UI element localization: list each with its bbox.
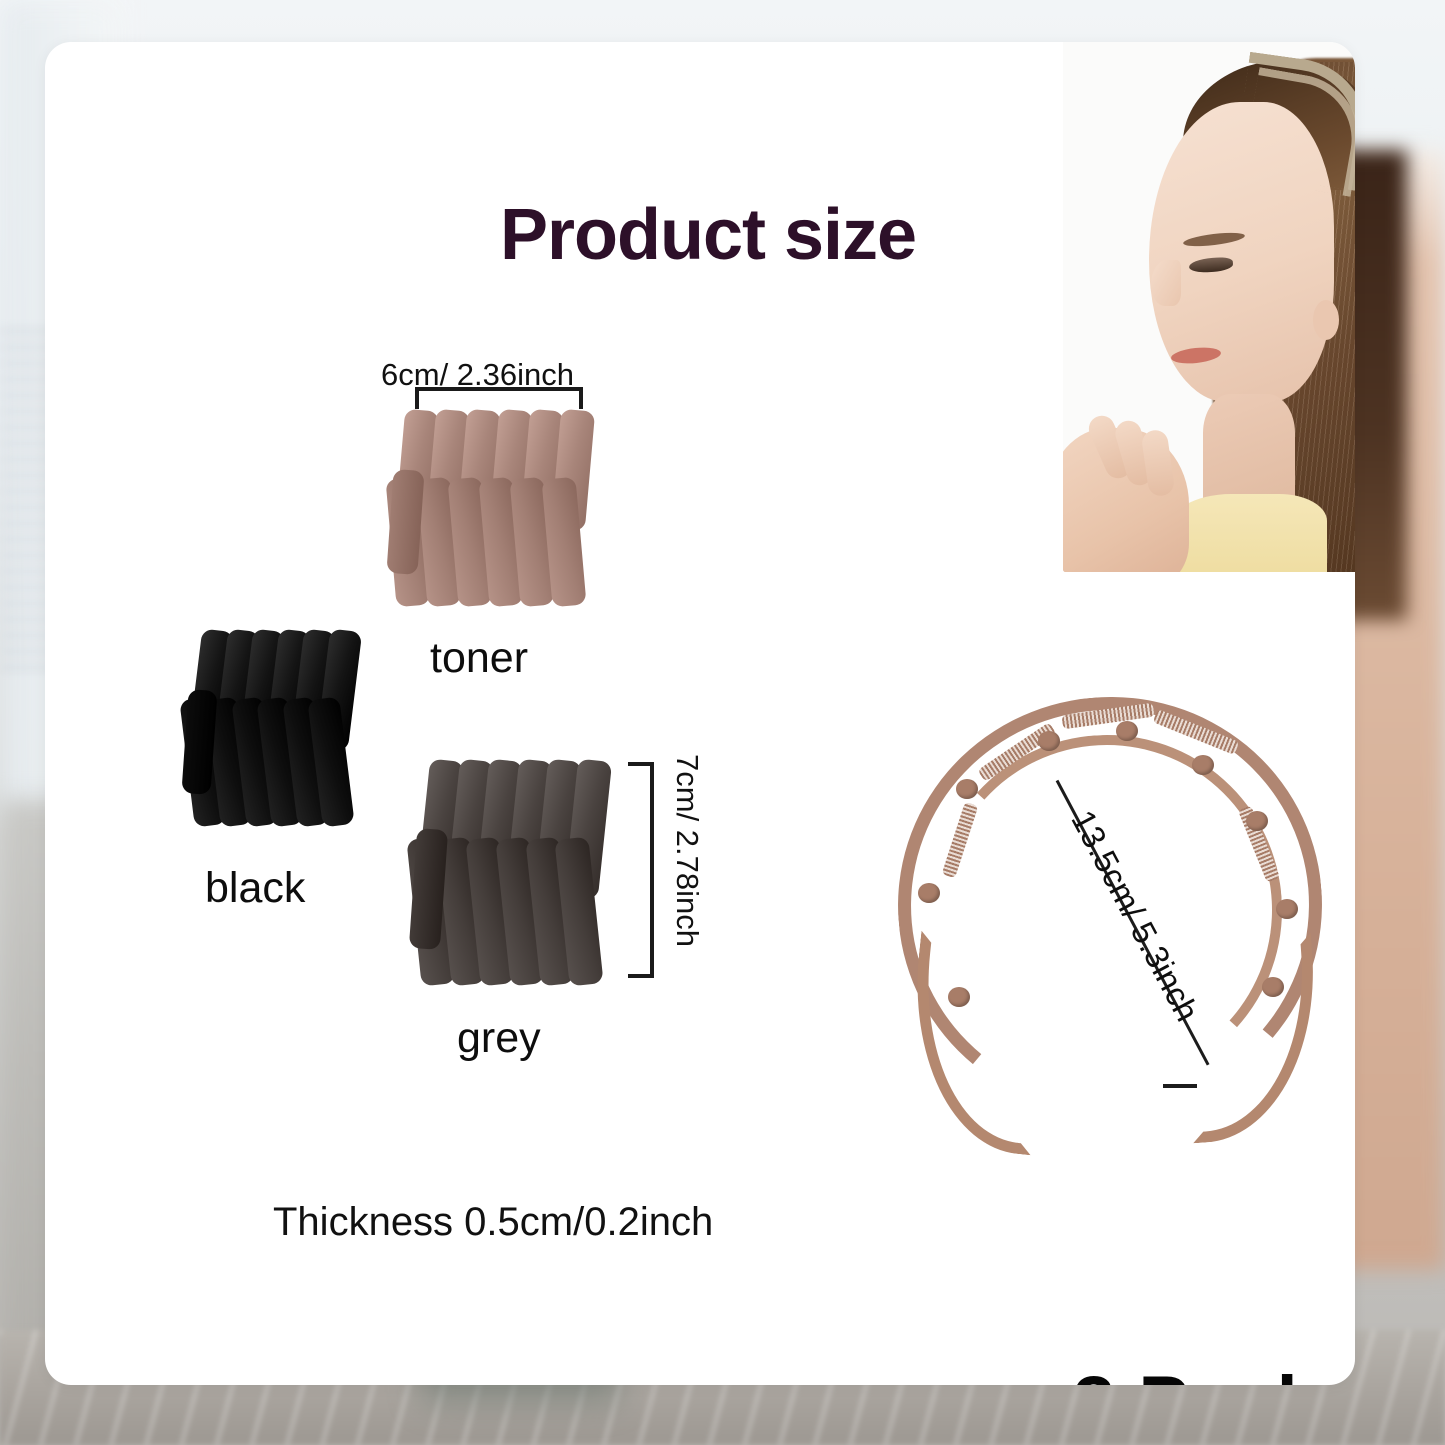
arch-joint-node	[1246, 811, 1268, 831]
variant-label-grey: grey	[457, 1014, 541, 1063]
height-measurement-label: 7cm/ 2.78inch	[669, 754, 705, 947]
arch-joint-node	[918, 883, 940, 903]
pack-count-badge: 3 Pack	[1073, 1360, 1320, 1385]
height-bracket	[628, 762, 654, 978]
open-headband-arch-photo	[890, 687, 1320, 1157]
content-card: Product size 6cm/ 2.36inch t	[45, 42, 1355, 1385]
product-size-infographic: Product size 6cm/ 2.36inch t	[0, 0, 1445, 1445]
model-nose	[1151, 260, 1181, 306]
arch-joint-node	[1276, 899, 1298, 919]
arch-joint-node	[1038, 731, 1060, 751]
page-title: Product size	[500, 194, 916, 276]
arch-right-tail	[1179, 933, 1325, 1144]
arch-joint-node	[1192, 755, 1214, 775]
product-grey	[423, 760, 605, 990]
model-ear	[1313, 300, 1339, 340]
thickness-text: Thickness 0.5cm/0.2inch	[273, 1200, 713, 1245]
model-shirt	[1167, 494, 1327, 572]
span-measure-tick	[1163, 1084, 1197, 1088]
arch-joint-node	[956, 779, 978, 799]
product-black	[195, 630, 355, 830]
variant-label-toner: toner	[430, 634, 528, 683]
arch-left-tail	[899, 931, 1052, 1156]
arch-joint-node	[1116, 721, 1138, 741]
model-wearing-headband-photo	[1063, 42, 1355, 572]
variant-label-black: black	[205, 864, 305, 913]
product-toner	[400, 410, 590, 610]
width-bracket	[415, 387, 583, 409]
